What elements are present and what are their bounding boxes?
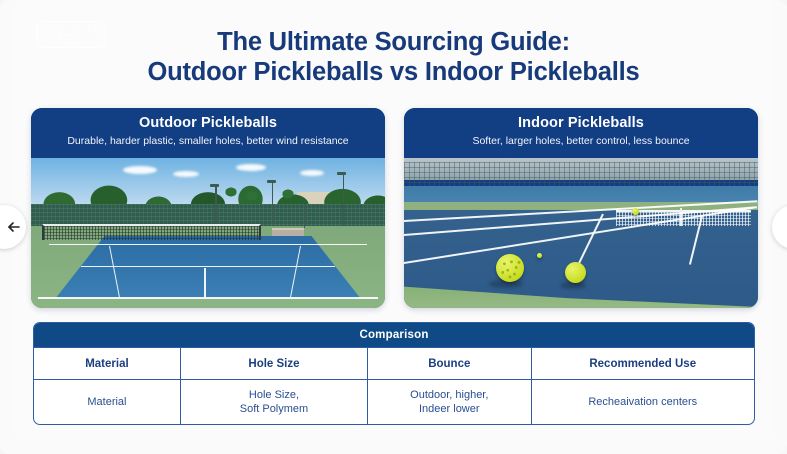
table-banner: Comparison [34,323,754,347]
table-cell-bounce: Outdoor, higher,Indeer lower [368,380,531,424]
card-outdoor-title: Outdoor Pickleballs [31,114,385,133]
page-title: The Ultimate Sourcing Guide: Outdoor Pic… [0,27,787,87]
ai-watermark-badge: AI生成 [36,21,106,48]
fence-post [304,204,306,228]
light-pole [215,184,217,224]
slide-canvas: AI生成 The Ultimate Sourcing Guide: Outdoo… [0,0,787,454]
comparison-cards: Outdoor Pickleballs Durable, harder plas… [31,108,758,308]
light-pole-head [267,180,276,183]
comparison-table: Comparison Material Hole Size Bounce Rec… [33,322,755,425]
court-line [49,244,368,245]
table-header-row: Material Hole Size Bounce Recommended Us… [34,347,754,380]
light-pole [272,180,274,224]
arrow-left-icon [7,220,21,234]
card-outdoor-photo [31,158,385,308]
court-line [81,266,336,267]
palm-tree [243,188,261,204]
card-outdoor-subtitle: Durable, harder plastic, smaller holes, … [31,133,385,149]
carousel-next-button[interactable] [772,205,787,249]
light-pole-head [337,172,346,175]
table-cell-material: Material [34,380,181,424]
pickleball-large [496,254,524,282]
table-header-bounce: Bounce [368,348,531,379]
court-net [42,224,261,240]
card-indoor-header: Indoor Pickleballs Softer, larger holes,… [404,108,758,158]
table-cell-hole-size: Hole Size,Soft Polymem [181,380,368,424]
page-title-line-1: The Ultimate Sourcing Guide: [217,28,570,56]
card-outdoor-header: Outdoor Pickleballs Durable, harder plas… [31,108,385,158]
table-header-material: Material [34,348,181,379]
card-indoor-subtitle: Softer, larger holes, better control, le… [404,133,758,149]
table-cell-recommended-use: Recheaivation centers [532,380,754,424]
table-row: Material Hole Size,Soft Polymem Outdoor,… [34,380,754,424]
page-title-line-2: Outdoor Pickleballs vs Indoor Pickleball… [0,57,787,87]
table-header-hole-size: Hole Size [181,348,368,379]
court-center-line [204,268,205,298]
card-indoor-photo [404,158,758,308]
palm-tree [279,186,297,202]
ball-shadow [560,282,586,289]
palm-tree [222,184,240,200]
card-indoor[interactable]: Indoor Pickleballs Softer, larger holes,… [404,108,758,308]
card-outdoor[interactable]: Outdoor Pickleballs Durable, harder plas… [31,108,385,308]
tennis-ball [565,262,586,283]
light-pole-head [210,184,219,187]
table-header-recommended-use: Recommended Use [532,348,754,379]
light-pole [343,172,345,226]
card-indoor-title: Indoor Pickleballs [404,114,758,133]
pickleball-small [537,253,542,258]
court-line [38,297,378,299]
